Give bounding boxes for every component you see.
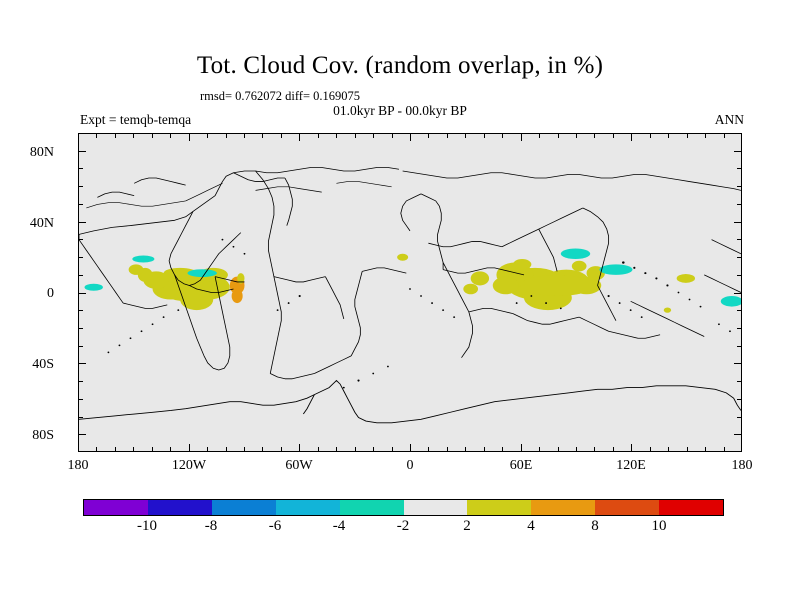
tick-mark bbox=[650, 447, 651, 452]
tick-mark bbox=[115, 447, 116, 452]
colorbar-label-pos4: 4 bbox=[527, 518, 535, 535]
tick-mark bbox=[226, 133, 227, 138]
tick-mark bbox=[152, 133, 153, 138]
tick-mark bbox=[576, 447, 577, 452]
tick-mark bbox=[392, 447, 393, 452]
tick-mark bbox=[373, 447, 374, 452]
tick-mark bbox=[737, 417, 742, 418]
tick-mark bbox=[428, 133, 429, 138]
tick-mark bbox=[78, 310, 83, 311]
x-tick-label-60w: 60W bbox=[285, 458, 312, 474]
map-plot-area bbox=[78, 133, 742, 452]
colorbar-swatch-1 bbox=[148, 500, 212, 515]
tick-mark bbox=[96, 447, 97, 452]
tick-mark bbox=[318, 133, 319, 138]
tick-mark bbox=[262, 447, 263, 452]
tick-mark bbox=[299, 133, 300, 141]
colorbar-swatch-6 bbox=[467, 500, 531, 515]
tick-mark bbox=[447, 133, 448, 138]
x-tick-label-120w: 120W bbox=[172, 458, 206, 474]
tick-mark bbox=[189, 133, 190, 141]
tick-mark bbox=[558, 447, 559, 452]
tick-mark bbox=[465, 133, 466, 138]
tick-mark bbox=[299, 444, 300, 452]
x-tick-label-180w: 180 bbox=[68, 458, 89, 474]
tick-mark bbox=[737, 204, 742, 205]
statistics-label: rmsd= 0.762072 diff= 0.169075 bbox=[0, 89, 560, 104]
tick-mark bbox=[737, 239, 742, 240]
tick-mark bbox=[502, 133, 503, 138]
tick-mark bbox=[78, 275, 83, 276]
tick-mark bbox=[78, 257, 83, 258]
colorbar-swatch-8 bbox=[595, 500, 659, 515]
tick-mark bbox=[281, 447, 282, 452]
tick-mark bbox=[373, 133, 374, 138]
tick-mark bbox=[737, 168, 742, 169]
tick-mark bbox=[631, 133, 632, 141]
tick-mark bbox=[189, 444, 190, 452]
tick-mark bbox=[668, 447, 669, 452]
x-tick-label-180e: 180 bbox=[732, 458, 753, 474]
tick-mark bbox=[78, 363, 86, 364]
tick-mark bbox=[724, 447, 725, 452]
tick-mark bbox=[558, 133, 559, 138]
tick-mark bbox=[78, 186, 83, 187]
colorbar-swatch-2 bbox=[212, 500, 276, 515]
tick-mark bbox=[78, 346, 83, 347]
colorbar-label-neg2: -2 bbox=[397, 518, 410, 535]
tick-mark bbox=[207, 133, 208, 138]
tick-mark bbox=[226, 447, 227, 452]
tick-mark bbox=[207, 447, 208, 452]
tick-mark bbox=[668, 133, 669, 138]
tick-mark bbox=[392, 133, 393, 138]
tick-mark bbox=[737, 328, 742, 329]
y-tick-label-80n: 80N bbox=[0, 145, 54, 161]
tick-mark bbox=[428, 447, 429, 452]
tick-mark bbox=[737, 257, 742, 258]
colorbar-swatch-7 bbox=[531, 500, 595, 515]
tick-mark bbox=[613, 447, 614, 452]
tick-mark bbox=[281, 133, 282, 138]
colorbar-swatch-9 bbox=[659, 500, 723, 515]
tick-mark bbox=[687, 133, 688, 138]
tick-mark bbox=[78, 328, 83, 329]
tick-mark bbox=[734, 222, 742, 223]
tick-mark bbox=[502, 447, 503, 452]
colorbar-swatch-0 bbox=[84, 500, 148, 515]
colorbar bbox=[83, 499, 724, 516]
tick-mark bbox=[355, 447, 356, 452]
tick-mark bbox=[410, 133, 411, 141]
tick-mark bbox=[262, 133, 263, 138]
tick-mark bbox=[170, 133, 171, 138]
colorbar-label-neg10: -10 bbox=[137, 518, 157, 535]
tick-mark bbox=[78, 434, 86, 435]
colorbar-label-neg8: -8 bbox=[205, 518, 218, 535]
tick-mark bbox=[687, 447, 688, 452]
tick-mark bbox=[410, 444, 411, 452]
tick-mark bbox=[724, 133, 725, 138]
tick-mark bbox=[447, 447, 448, 452]
figure-canvas: Tot. Cloud Cov. (random overlap, in %) r… bbox=[0, 0, 800, 600]
tick-mark bbox=[734, 293, 742, 294]
antarctica-coastline bbox=[79, 381, 741, 423]
colorbar-label-neg6: -6 bbox=[269, 518, 282, 535]
tick-mark bbox=[78, 239, 83, 240]
colorbar-swatch-3 bbox=[276, 500, 340, 515]
season-label: ANN bbox=[715, 112, 744, 128]
y-tick-label-0: 0 bbox=[0, 286, 54, 302]
x-tick-label-0: 0 bbox=[407, 458, 414, 474]
tick-mark bbox=[734, 151, 742, 152]
world-map bbox=[79, 134, 741, 451]
tick-mark bbox=[336, 447, 337, 452]
colorbar-swatch-4 bbox=[340, 500, 404, 515]
tick-mark bbox=[737, 275, 742, 276]
tick-mark bbox=[734, 363, 742, 364]
tick-mark bbox=[78, 204, 83, 205]
tick-mark bbox=[78, 417, 83, 418]
x-tick-label-120e: 120E bbox=[616, 458, 646, 474]
colorbar-label-neg4: -4 bbox=[333, 518, 346, 535]
tick-mark bbox=[613, 133, 614, 138]
colorbar-label-pos10: 10 bbox=[652, 518, 667, 535]
tick-mark bbox=[78, 399, 83, 400]
tick-mark bbox=[244, 447, 245, 452]
tick-mark bbox=[539, 133, 540, 138]
tick-mark bbox=[115, 133, 116, 138]
tick-mark bbox=[78, 168, 83, 169]
tick-mark bbox=[737, 399, 742, 400]
tick-mark bbox=[737, 381, 742, 382]
tick-mark bbox=[521, 133, 522, 141]
tick-mark bbox=[705, 447, 706, 452]
y-tick-label-40s: 40S bbox=[0, 357, 54, 373]
tick-mark bbox=[737, 346, 742, 347]
tick-mark bbox=[594, 447, 595, 452]
tick-mark bbox=[705, 133, 706, 138]
tick-mark bbox=[170, 447, 171, 452]
tick-mark bbox=[576, 133, 577, 138]
tick-mark bbox=[78, 151, 86, 152]
tick-mark bbox=[594, 133, 595, 138]
tick-mark bbox=[484, 447, 485, 452]
tick-mark bbox=[152, 447, 153, 452]
colorbar-label-pos2: 2 bbox=[463, 518, 471, 535]
island-dots bbox=[108, 239, 731, 389]
tick-mark bbox=[737, 310, 742, 311]
tick-mark bbox=[244, 133, 245, 138]
tick-mark bbox=[78, 293, 86, 294]
experiment-label: Expt = temqb-temqa bbox=[80, 112, 191, 128]
tick-mark bbox=[521, 444, 522, 452]
anomaly-shading bbox=[85, 248, 741, 312]
tick-mark bbox=[539, 447, 540, 452]
tick-mark bbox=[96, 133, 97, 138]
tick-mark bbox=[355, 133, 356, 138]
tick-mark bbox=[133, 133, 134, 138]
x-tick-label-60e: 60E bbox=[510, 458, 533, 474]
colorbar-swatch-5 bbox=[404, 500, 468, 515]
tick-mark bbox=[484, 133, 485, 138]
tick-mark bbox=[318, 447, 319, 452]
tick-mark bbox=[133, 447, 134, 452]
tick-mark bbox=[78, 222, 86, 223]
tick-mark bbox=[734, 434, 742, 435]
page-title: Tot. Cloud Cov. (random overlap, in %) bbox=[0, 52, 800, 80]
y-tick-label-80s: 80S bbox=[0, 428, 54, 444]
tick-mark bbox=[737, 186, 742, 187]
tick-mark bbox=[465, 447, 466, 452]
tick-mark bbox=[650, 133, 651, 138]
colorbar-label-pos8: 8 bbox=[591, 518, 599, 535]
tick-mark bbox=[631, 444, 632, 452]
tick-mark bbox=[78, 381, 83, 382]
tick-mark bbox=[336, 133, 337, 138]
y-tick-label-40n: 40N bbox=[0, 216, 54, 232]
